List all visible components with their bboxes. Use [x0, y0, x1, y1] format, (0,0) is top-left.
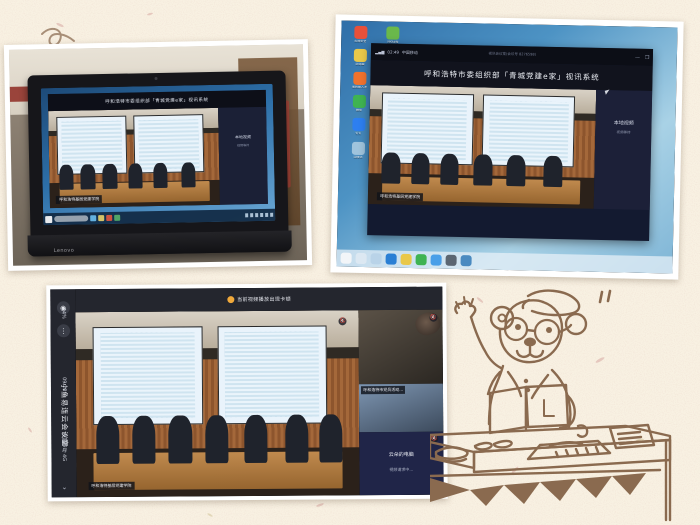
taskbar-icon-browser[interactable] [386, 253, 397, 264]
desktop-icon-label: 钉钉 [355, 132, 361, 135]
warning-icon [227, 296, 234, 303]
conference-video-stage[interactable]: 呼和浩特基层党建学院 [368, 85, 596, 209]
conference-room-video: 呼和浩特基层党建学院 [368, 85, 596, 209]
minimize-icon[interactable]: — [635, 54, 640, 60]
attendees [88, 414, 348, 464]
collage-canvas: 呼和浩特市委组织部「青城党建e家」视讯系统 [0, 0, 700, 525]
windows-taskbar[interactable] [336, 249, 672, 273]
desktop-icon[interactable]: 360压缩 [378, 26, 407, 44]
taskbar-icon-explorer[interactable] [98, 215, 104, 221]
app-icon-recyclebin [351, 141, 364, 154]
more-icon[interactable]: ⋮ [57, 325, 70, 338]
windows-taskbar[interactable] [43, 209, 276, 226]
status-carrier: 中国移动 4G [61, 432, 68, 461]
app-icon-360zip [386, 26, 399, 39]
chevron-down-icon[interactable]: ⌄ [61, 483, 67, 491]
projection-screen-right [217, 325, 327, 424]
taskbar-search-icon[interactable] [356, 253, 367, 264]
desktop-icon-label: 微信 [356, 109, 362, 112]
app-icon-sogou [353, 72, 366, 85]
attendees [56, 162, 214, 190]
windows-desktop: 呼和浩特市委组织部「青城党建e家」视讯系统 [40, 83, 275, 225]
conference-video-stage[interactable]: 呼和浩特基层党建学院 [48, 108, 221, 207]
laptop-photo[interactable]: 呼和浩特市委组织部「青城党建e家」视讯系统 [4, 39, 312, 271]
taskbar-tray[interactable] [246, 213, 274, 218]
status-time: 09:28 [61, 377, 67, 391]
phone-photo[interactable]: ◉ ⋮ 24% 小鱼易连云会议室 09:28 中国移动 4G ⌄ 当前视频播放出… [46, 283, 447, 502]
local-video-status: 视频等待 [237, 143, 249, 147]
taskbar-icon-wechat[interactable] [114, 215, 120, 221]
lenovo-logo: Lenovo [54, 247, 75, 253]
taskbar-icon-camera[interactable] [446, 255, 457, 266]
desktop-icon[interactable]: 火绒安全 [346, 26, 375, 44]
app-title: 呼和浩特市委组织部「青城党建e家」视讯系统 [424, 69, 600, 84]
projection-screen-left [93, 326, 203, 425]
phone-status-rail: ◉ ⋮ 24% 小鱼易连云会议室 09:28 中国移动 4G ⌄ [50, 289, 77, 497]
desktop-icon-label: 此电脑 [355, 63, 364, 66]
video-participant-label: 呼和浩特基层党建学院 [377, 192, 423, 201]
status-signal-icon: ▂▄▆ [375, 49, 384, 54]
taskbar-icon-settings[interactable] [460, 255, 471, 266]
phone-content: 当前视频播放出现卡顿 [76, 287, 444, 498]
conference-room-video: 呼和浩特基层党建学院 [48, 108, 221, 207]
status-time: 02:49 [387, 50, 399, 55]
taskbar-search-input[interactable] [54, 216, 88, 223]
window-controls[interactable]: — ❐ [635, 54, 650, 60]
local-video-panel[interactable]: 本地视频 视频等待 [594, 90, 653, 210]
start-button-icon[interactable] [45, 216, 52, 223]
laptop-body: 呼和浩特市委组织部「青城党建e家」视讯系统 [27, 70, 289, 256]
local-video-label: 本地视频 [614, 119, 634, 126]
toast-message: 当前视频播放出现卡顿 [237, 296, 291, 303]
app-icon-thispc [353, 49, 366, 62]
attendees [377, 152, 585, 187]
app-icon-dingtalk [352, 118, 365, 131]
desktop-icon-label: 搜狗输入法 [352, 86, 367, 89]
app-icon-huorong [354, 26, 367, 39]
laptop-screen: 呼和浩特市委组织部「青城党建e家」视讯系统 [40, 83, 275, 225]
app-status-left: ▂▄▆ 02:49 中国移动 [375, 49, 418, 56]
local-video-label: 本地视频 [235, 134, 251, 140]
app-window-subtitle: 视讯会议室(会议号 8276598) [489, 52, 537, 58]
conference-room-video: 呼和浩特基层党建学院 [76, 310, 360, 497]
main-video-stage[interactable]: 呼和浩特基层党建学院 🔇 [76, 310, 360, 497]
start-button-icon[interactable] [341, 252, 352, 263]
video-participant-label: 呼和浩特基层党建学院 [88, 481, 134, 489]
phone-screen: ◉ ⋮ 24% 小鱼易连云会议室 09:28 中国移动 4G ⌄ 当前视频播放出… [50, 287, 443, 498]
bear-doodle-drawing [430, 280, 700, 525]
local-video-panel[interactable]: 本地视频 视频等待 [218, 107, 268, 204]
bear-at-desk-doodle [430, 280, 700, 525]
local-video-status: 视频等待 [617, 130, 631, 135]
conference-app-window[interactable]: ▂▄▆ 02:49 中国移动 视讯会议室(会议号 8276598) — ❐ 呼和… [367, 43, 653, 241]
tile-label: 呼和浩特市党员活动… [361, 386, 405, 394]
restore-icon[interactable]: ❐ [645, 55, 650, 61]
status-carrier: 中国移动 [402, 50, 418, 56]
taskbar-icon-browser[interactable] [90, 215, 96, 221]
battery-level: 24% [60, 307, 66, 318]
conference-app-title: 呼和浩特市委组织部「青城党建e家」视讯系统 [105, 97, 208, 105]
mic-muted-icon[interactable]: 🔇 [339, 318, 347, 326]
taskbar-icon-wps[interactable] [106, 215, 112, 221]
laptop-photo-content: 呼和浩特市委组织部「青城党建e家」视讯系统 [9, 44, 307, 266]
desktop-icon-label: 回收站 [353, 155, 362, 158]
desktop-icon-label: 火绒安全 [354, 40, 366, 43]
windows-desktop-wallpaper: 火绒安全 360压缩 此电脑 WPS Office 搜狗输入法 腾讯视频 微信 … [336, 21, 677, 274]
task-view-icon[interactable] [371, 253, 382, 264]
taskbar-icon-explorer[interactable] [401, 254, 412, 265]
app-icon-wechat [352, 95, 365, 108]
webcam-icon [155, 77, 158, 80]
conference-app-window[interactable]: 呼和浩特市委组织部「青城党建e家」视讯系统 [47, 90, 268, 207]
video-participant-label: 呼和浩特基层党建学院 [56, 195, 102, 204]
toast-banner: 当前视频播放出现卡顿 [76, 287, 443, 312]
taskbar-icon-xiaoyu[interactable] [431, 254, 442, 265]
monitor-photo[interactable]: 火绒安全 360压缩 此电脑 WPS Office 搜狗输入法 腾讯视频 微信 … [330, 14, 683, 279]
taskbar-icon-wechat[interactable] [416, 254, 427, 265]
monitor-photo-content: 火绒安全 360压缩 此电脑 WPS Office 搜狗输入法 腾讯视频 微信 … [336, 21, 677, 274]
